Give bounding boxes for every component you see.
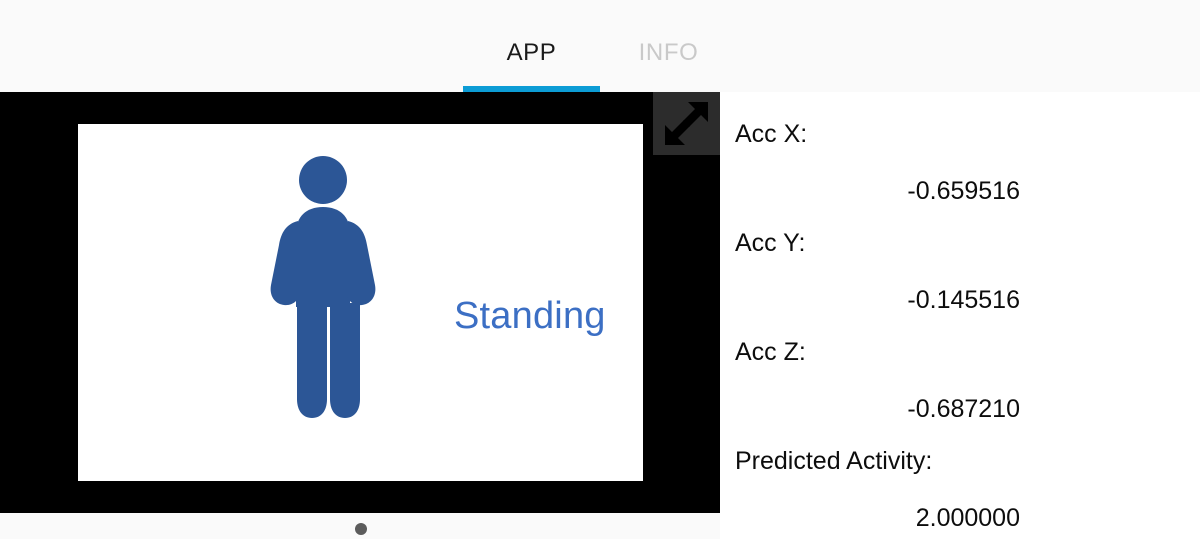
- tab-info[interactable]: INFO: [600, 0, 737, 92]
- page-indicator-dot[interactable]: [355, 523, 367, 535]
- reading-value-acc-z: -0.687210: [735, 397, 1020, 422]
- reading-label-acc-x: Acc X:: [735, 122, 1020, 147]
- sensor-readout-panel: Acc X: -0.659516 Acc Y: -0.145516 Acc Z:…: [720, 92, 1200, 539]
- tab-bar: APP INFO: [0, 0, 1200, 92]
- reading-value-predicted-activity: 2.000000: [735, 506, 1020, 531]
- tab-app-label: APP: [507, 39, 557, 67]
- reading-acc-z: Acc Z: -0.687210: [735, 340, 1020, 422]
- activity-label: Standing: [454, 295, 606, 338]
- reading-value-acc-y: -0.145516: [735, 288, 1020, 313]
- reading-label-acc-z: Acc Z:: [735, 340, 1020, 365]
- fullscreen-expand-icon: [664, 101, 709, 146]
- tab-app[interactable]: APP: [463, 0, 600, 92]
- reading-label-acc-y: Acc Y:: [735, 231, 1020, 256]
- reading-label-predicted-activity: Predicted Activity:: [735, 449, 1020, 474]
- tab-list: APP INFO: [463, 0, 737, 92]
- reading-acc-x: Acc X: -0.659516: [735, 122, 1020, 204]
- activity-viewer-stage: Standing: [0, 92, 720, 513]
- reading-value-acc-x: -0.659516: [735, 179, 1020, 204]
- tab-info-label: INFO: [639, 39, 699, 67]
- standing-person-icon: [268, 155, 388, 430]
- page-indicator: [0, 513, 720, 539]
- app-root: APP INFO: [0, 0, 1200, 539]
- activity-canvas: Standing: [78, 124, 643, 481]
- fullscreen-button[interactable]: [653, 92, 720, 155]
- reading-acc-y: Acc Y: -0.145516: [735, 231, 1020, 313]
- reading-predicted-activity: Predicted Activity: 2.000000: [735, 449, 1020, 531]
